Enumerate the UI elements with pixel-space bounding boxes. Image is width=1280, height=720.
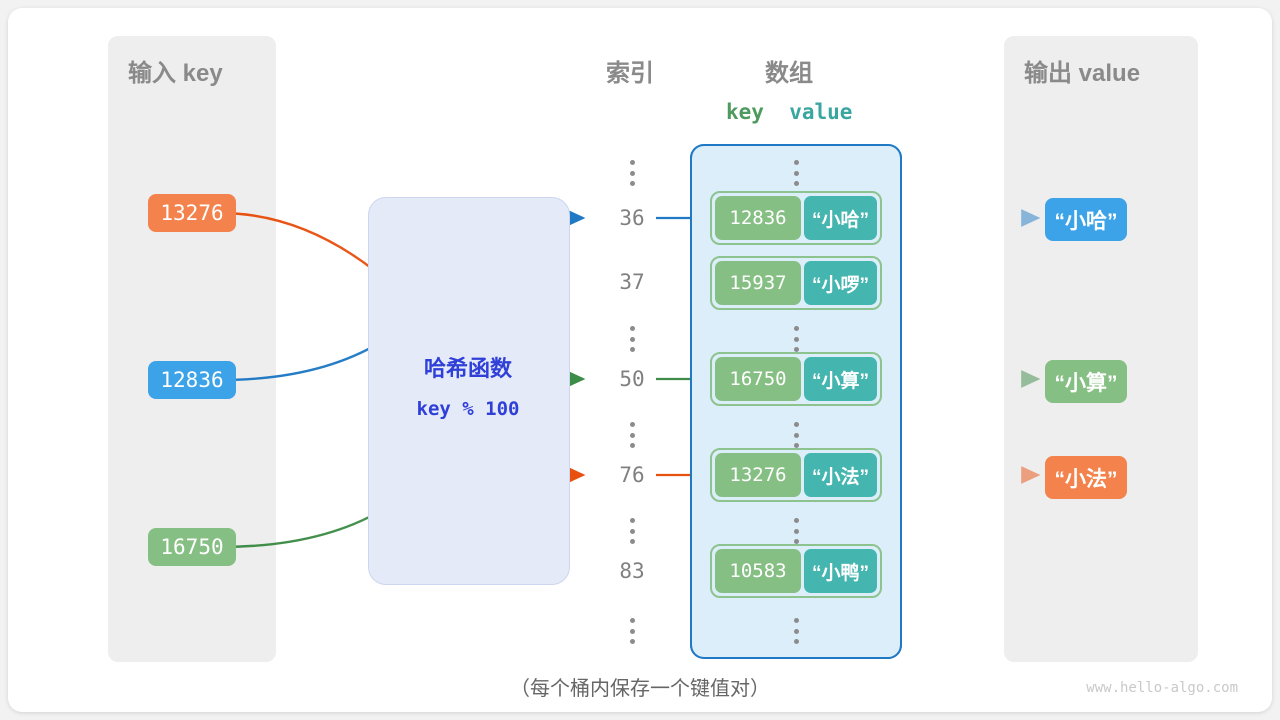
hash-function-box (368, 197, 570, 585)
bucket-76: 13276 “小法” (710, 448, 882, 502)
array-ellipsis-bottom (786, 618, 806, 644)
output-value-xiaofa: “小法” (1045, 456, 1127, 499)
bucket-50-value: “小算” (804, 357, 877, 401)
array-key-header: key (726, 100, 764, 124)
hash-function-label: 哈希函数 (368, 351, 568, 383)
bucket-36-value: “小哈” (804, 196, 877, 240)
bucket-83: 10583 “小鸭” (710, 544, 882, 598)
index-ellipsis-4 (622, 518, 642, 544)
bucket-83-key: 10583 (715, 549, 801, 593)
index-ellipsis-top (622, 160, 642, 186)
bucket-37-value: “小啰” (804, 261, 877, 305)
bucket-83-value: “小鸭” (804, 549, 877, 593)
input-panel-title: 输入 key (128, 53, 223, 88)
hash-function-expression: key % 100 (368, 398, 568, 420)
output-panel (1004, 36, 1198, 662)
diagram-canvas: 输入 key 索引 数组 输出 value key value (8, 8, 1272, 712)
index-ellipsis-3 (622, 422, 642, 448)
bucket-36-key: 12836 (715, 196, 801, 240)
index-label-76: 76 (604, 463, 660, 487)
index-column-title: 索引 (606, 53, 654, 88)
bucket-50-key: 16750 (715, 357, 801, 401)
index-label-83: 83 (604, 559, 660, 583)
bucket-76-key: 13276 (715, 453, 801, 497)
array-ellipsis-top (786, 160, 806, 186)
bucket-36: 12836 “小哈” (710, 191, 882, 245)
input-key-13276: 13276 (148, 194, 236, 232)
array-ellipsis-4 (786, 518, 806, 544)
index-label-37: 37 (604, 270, 660, 294)
array-value-header: value (789, 100, 852, 124)
index-ellipsis-2 (622, 326, 642, 352)
array-kv-header: key value (726, 100, 852, 124)
bucket-76-value: “小法” (804, 453, 877, 497)
diagram-caption: （每个桶内保存一个键值对） (8, 672, 1272, 701)
index-label-36: 36 (604, 206, 660, 230)
array-ellipsis-3 (786, 422, 806, 448)
index-ellipsis-bottom (622, 618, 642, 644)
bucket-37-key: 15937 (715, 261, 801, 305)
watermark: www.hello-algo.com (1086, 680, 1238, 696)
output-panel-title: 输出 value (1024, 53, 1140, 88)
output-value-xiaoha: “小哈” (1045, 198, 1127, 241)
array-ellipsis-2 (786, 326, 806, 352)
input-key-16750: 16750 (148, 528, 236, 566)
bucket-37: 15937 “小啰” (710, 256, 882, 310)
index-label-50: 50 (604, 367, 660, 391)
input-key-12836: 12836 (148, 361, 236, 399)
input-panel (108, 36, 276, 662)
output-value-xiaosuan: “小算” (1045, 360, 1127, 403)
bucket-50: 16750 “小算” (710, 352, 882, 406)
array-title: 数组 (765, 53, 813, 88)
